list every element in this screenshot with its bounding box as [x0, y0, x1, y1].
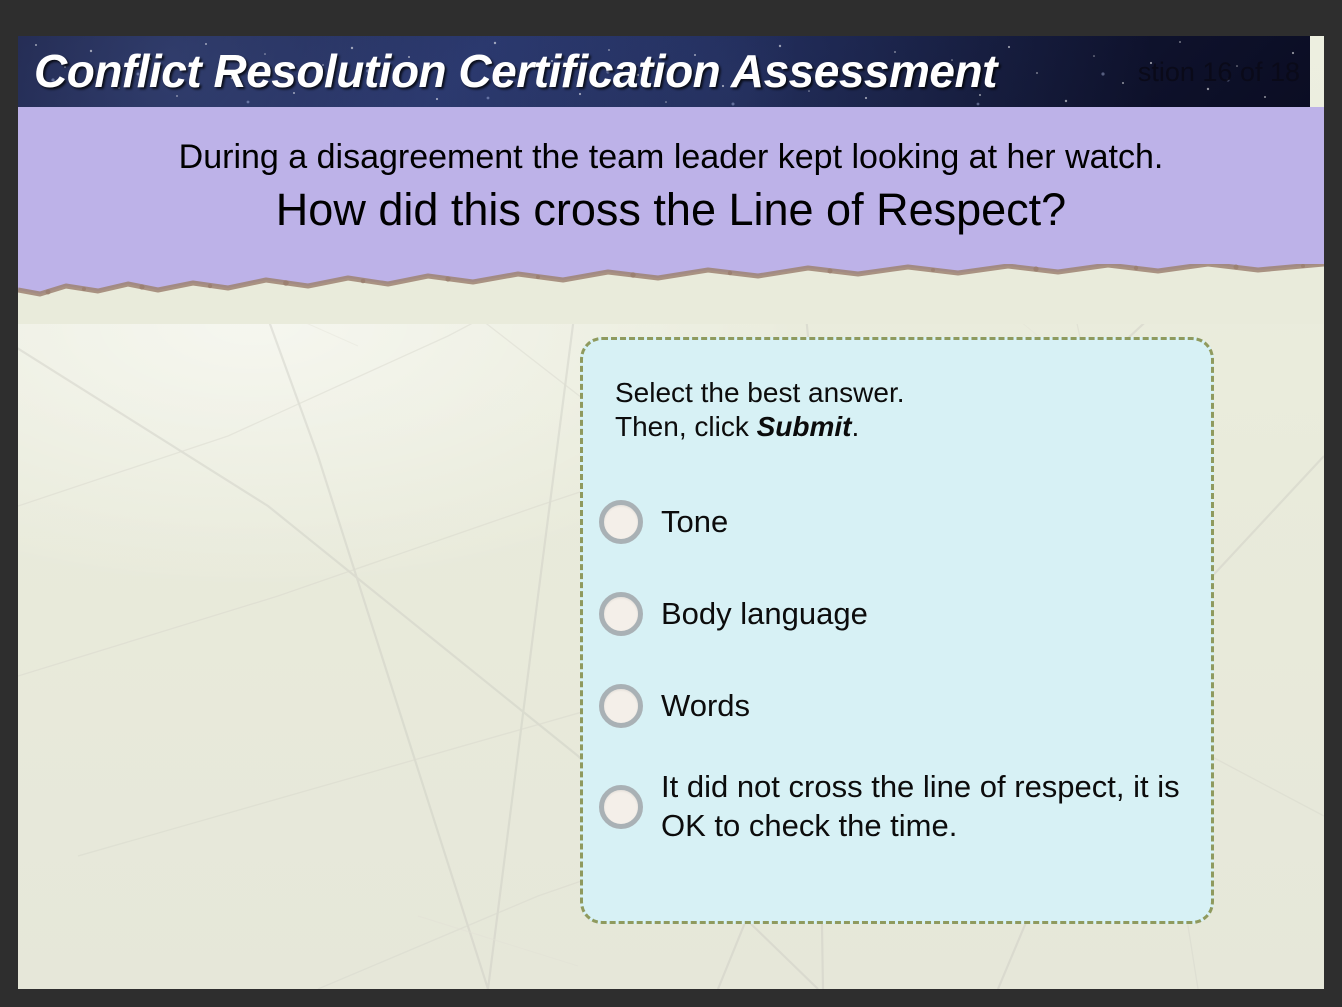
slide-canvas: During a disagreement the team leader ke… [18, 36, 1324, 989]
option-label: Tone [661, 503, 728, 542]
instruction-suffix: . [852, 411, 860, 442]
assessment-title: Conflict Resolution Certification Assess… [34, 43, 997, 97]
torn-edge-icon [18, 264, 1324, 324]
instructions-block: Select the best answer. Then, click Subm… [615, 376, 905, 444]
radio-button-icon[interactable] [599, 785, 643, 829]
question-text-block: During a disagreement the team leader ke… [18, 107, 1324, 236]
radio-button-icon[interactable] [599, 684, 643, 728]
instruction-line-2: Then, click Submit. [615, 410, 905, 444]
header-banner: stion 16 of 18 Conflict Resolution Certi… [18, 36, 1310, 107]
option-row-did-not-cross[interactable]: It did not cross the line of respect, it… [599, 768, 1197, 846]
option-row-tone[interactable]: Tone [599, 492, 1197, 552]
option-label: Words [661, 687, 750, 726]
radio-button-icon[interactable] [599, 500, 643, 544]
submit-keyword: Submit [757, 411, 852, 442]
slide-frame: During a disagreement the team leader ke… [0, 0, 1342, 1007]
radio-button-icon[interactable] [599, 592, 643, 636]
answer-options-list: Tone Body language Words It did not cros… [599, 492, 1197, 846]
instruction-prefix: Then, click [615, 411, 757, 442]
question-ask: How did this cross the Line of Respect? [18, 177, 1324, 236]
option-label: Body language [661, 595, 868, 634]
option-label: It did not cross the line of respect, it… [661, 768, 1197, 846]
option-row-words[interactable]: Words [599, 676, 1197, 736]
instruction-line-1: Select the best answer. [615, 376, 905, 410]
question-prompt: During a disagreement the team leader ke… [18, 107, 1324, 177]
question-counter: stion 16 of 18 [1138, 57, 1300, 88]
option-row-body-language[interactable]: Body language [599, 584, 1197, 644]
answer-panel: Select the best answer. Then, click Subm… [580, 337, 1214, 924]
